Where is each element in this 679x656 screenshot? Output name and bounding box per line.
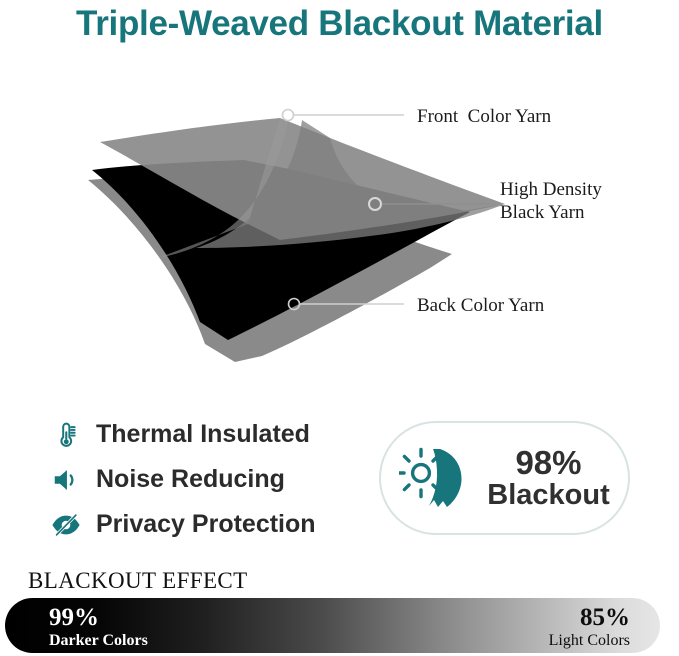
leader-dot-back bbox=[289, 299, 300, 310]
light-colors-stat: 85% Light Colors bbox=[549, 604, 630, 649]
blackout-badge: 98% Blackout bbox=[379, 421, 630, 535]
features-list: Thermal Insulated Noise Reducing Privacy… bbox=[48, 412, 368, 547]
feature-thermal-insulated: Thermal Insulated bbox=[48, 412, 368, 457]
light-colors-caption: Light Colors bbox=[549, 632, 630, 650]
label-front-color-yarn: Front Color Yarn bbox=[417, 105, 551, 128]
thermometer-icon bbox=[48, 417, 84, 453]
feature-noise-reducing: Noise Reducing bbox=[48, 457, 368, 502]
label-black-line2: Black Yarn bbox=[500, 202, 584, 223]
feature-label: Thermal Insulated bbox=[96, 420, 310, 449]
page-title: Triple-Weaved Blackout Material bbox=[0, 4, 679, 44]
speaker-icon bbox=[48, 462, 84, 498]
sun-blocked-icon bbox=[399, 445, 473, 511]
badge-percent: 98% bbox=[487, 445, 609, 481]
eye-off-icon bbox=[48, 507, 84, 543]
feature-privacy-protection: Privacy Protection bbox=[48, 502, 368, 547]
blackout-effect-heading: BLACKOUT EFFECT bbox=[28, 568, 248, 594]
feature-label: Privacy Protection bbox=[96, 510, 316, 539]
darker-colors-caption: Darker Colors bbox=[49, 632, 148, 650]
label-high-density-black-yarn: High DensityBlack Yarn bbox=[500, 178, 602, 224]
leader-dot-front bbox=[283, 110, 294, 121]
feature-label: Noise Reducing bbox=[96, 465, 285, 494]
blackout-effect-section: BLACKOUT EFFECT 99% Darker Colors 85% Li… bbox=[0, 568, 679, 656]
label-back-color-yarn: Back Color Yarn bbox=[417, 294, 544, 317]
badge-text: 98% Blackout bbox=[487, 445, 609, 512]
darker-colors-percent: 99% bbox=[49, 604, 148, 632]
darker-colors-stat: 99% Darker Colors bbox=[49, 604, 148, 649]
blackout-effect-gradient-bar: 99% Darker Colors 85% Light Colors bbox=[5, 598, 660, 653]
leader-dot-black bbox=[369, 198, 381, 210]
fabric-layers-diagram: Front Color Yarn High DensityBlack Yarn … bbox=[0, 72, 679, 362]
light-colors-percent: 85% bbox=[549, 604, 630, 632]
label-black-line1: High Density bbox=[500, 179, 602, 200]
badge-word: Blackout bbox=[487, 480, 609, 511]
